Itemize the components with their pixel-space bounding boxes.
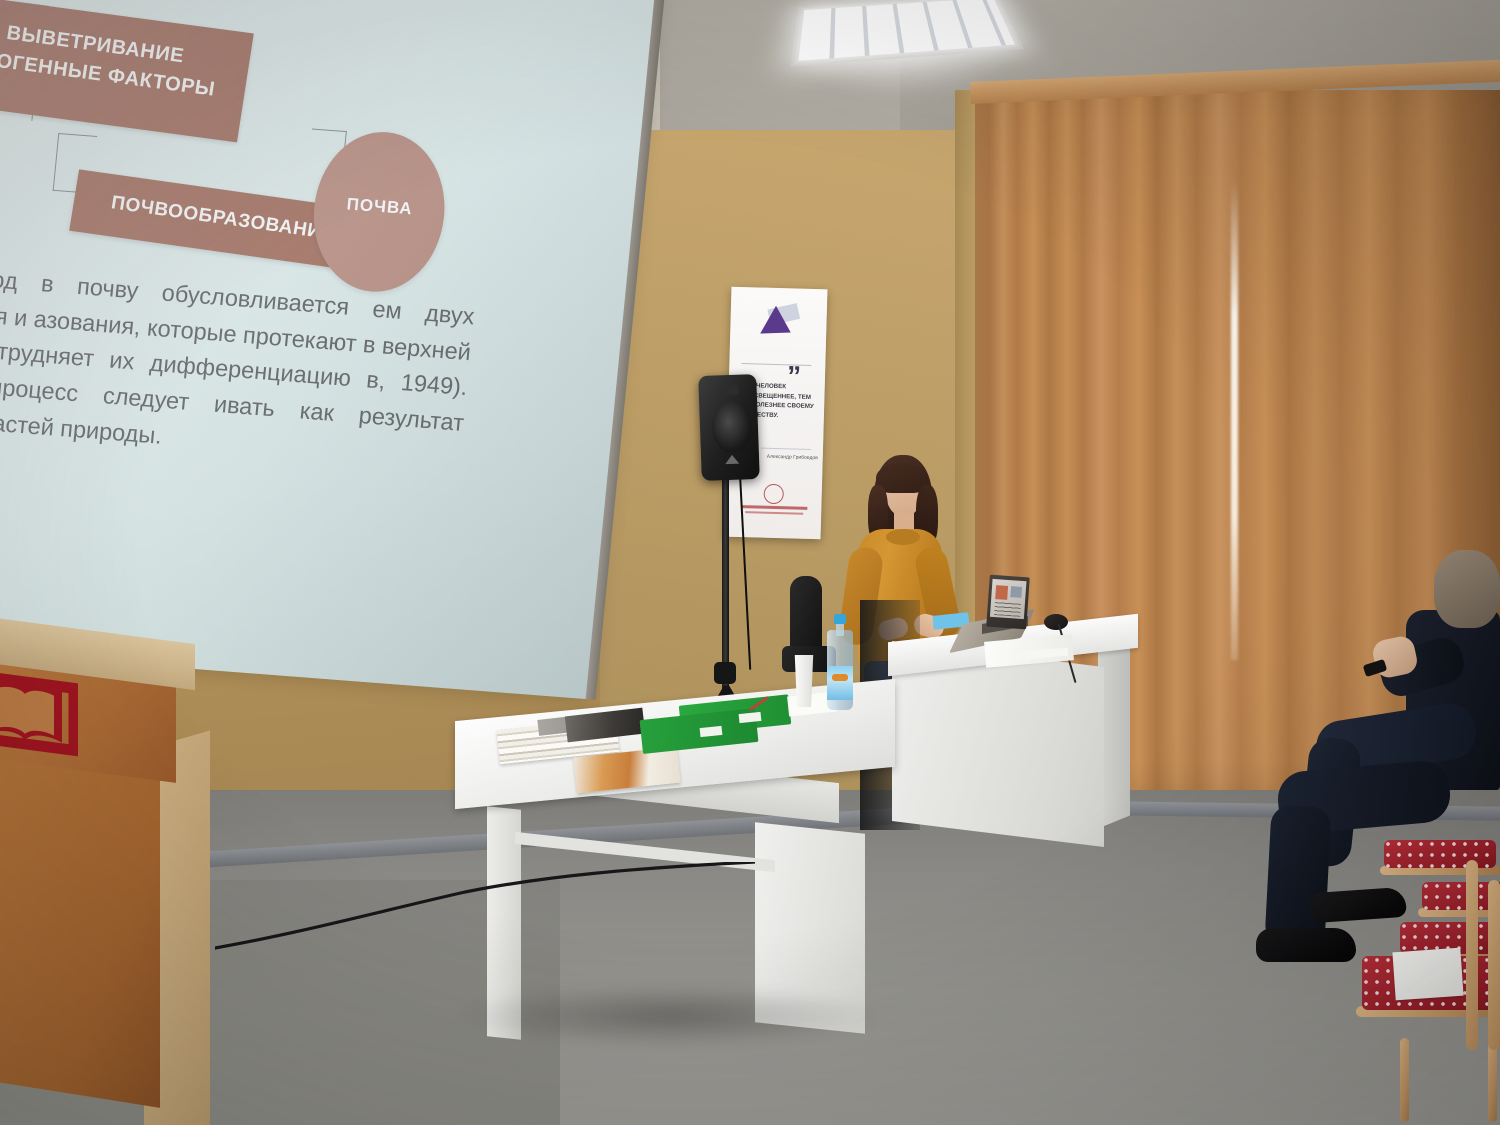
cable-path-icon	[215, 862, 755, 952]
pa-speaker	[698, 374, 760, 481]
laptop-screen	[986, 575, 1030, 630]
poster-seal-icon	[763, 484, 784, 505]
screen-light-falloff	[0, 0, 658, 699]
speaker-woofer-cone	[711, 400, 753, 453]
poster-footer-bar	[741, 505, 807, 510]
presenter-collar	[886, 529, 920, 545]
poster-author: Александр Грибоедов	[767, 454, 818, 461]
seated-attendee	[1258, 560, 1500, 1060]
lecture-hall-scene: ние горных пород в почву АЯДА ВЫВЕТРИВАН…	[0, 0, 1500, 1125]
bottle-neck	[836, 622, 844, 636]
speaker-tweeter	[724, 385, 739, 396]
curtain-daylight-gap	[1231, 180, 1238, 660]
poster-footer-bar-2	[745, 511, 803, 515]
tripod-clamp	[714, 662, 736, 684]
office-chair-back	[790, 576, 822, 654]
laptop-slide-text-lines	[994, 601, 1021, 617]
laptop	[960, 576, 1040, 646]
poster-rule	[761, 448, 811, 450]
projection-screen: ние горных пород в почву АЯДА ВЫВЕТРИВАН…	[0, 0, 658, 699]
lectern	[0, 620, 210, 1125]
desk-floor-shadow	[460, 986, 880, 1046]
laptop-slide-image	[995, 585, 1008, 600]
floor-cable	[215, 862, 755, 952]
bottle-label	[827, 666, 853, 700]
lectern-book-emblem	[0, 669, 78, 757]
attendee-shoe-front	[1256, 928, 1356, 962]
water-bottle	[827, 614, 853, 710]
attendee-shoe-back	[1309, 887, 1407, 924]
open-book-icon	[0, 669, 78, 757]
speaker-brand-icon	[725, 455, 739, 464]
lectern-body	[0, 746, 160, 1108]
attendee-head	[1434, 550, 1500, 628]
laptop-slide-image-2	[1010, 586, 1022, 598]
laptop-screen-content	[990, 579, 1027, 619]
bottle-cap	[834, 614, 846, 624]
bottle-label-accent	[832, 674, 848, 681]
attendee-shin-lower	[1264, 805, 1331, 948]
computer-mouse[interactable]	[1044, 614, 1068, 630]
